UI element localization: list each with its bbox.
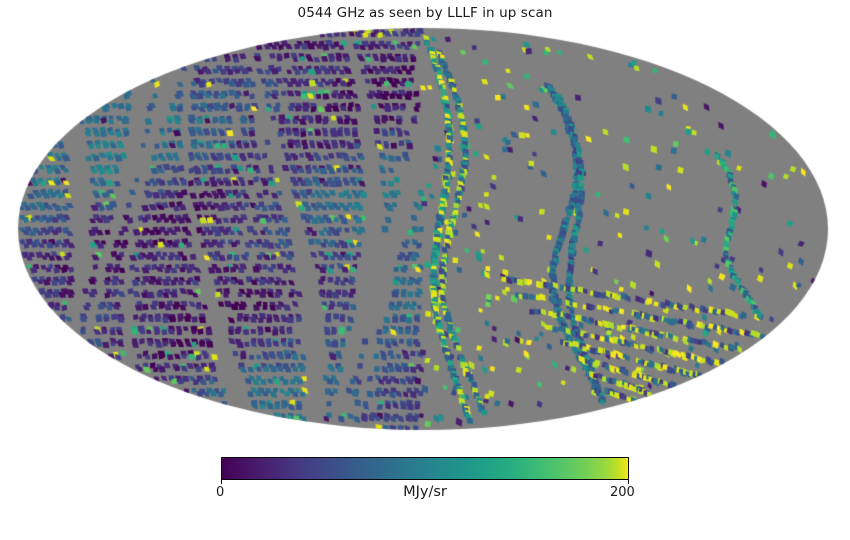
colorbar-gradient — [221, 457, 629, 480]
sky-map-figure: 0544 GHz as seen by LLLF in up scan 0 20… — [0, 0, 850, 540]
page-title: 0544 GHz as seen by LLLF in up scan — [0, 5, 850, 21]
colorbar-axis-label: MJy/sr — [221, 484, 629, 500]
colorbar: 0 200 MJy/sr — [221, 457, 629, 507]
mollweide-sky-map — [0, 22, 850, 442]
